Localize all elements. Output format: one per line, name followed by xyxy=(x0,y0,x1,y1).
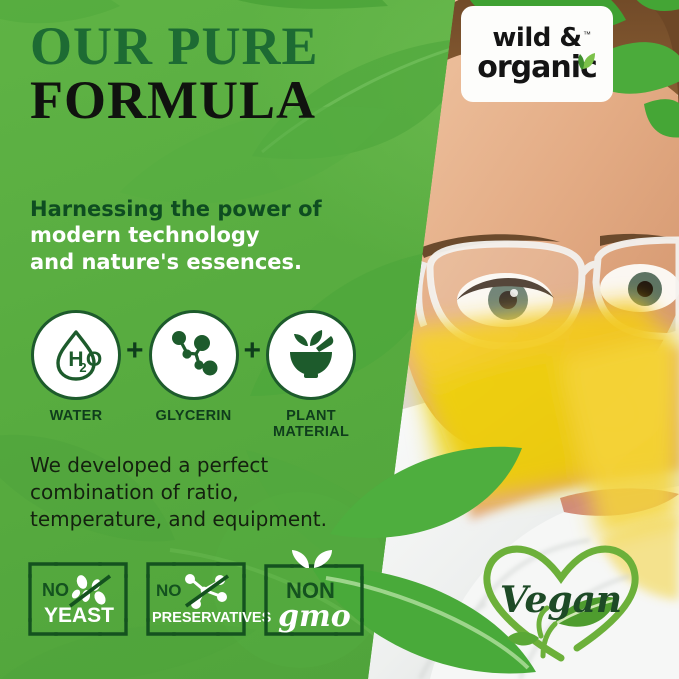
vegan-badge[interactable]: Vegan Vegan xyxy=(477,540,647,668)
glycerin-circle xyxy=(149,310,239,400)
trademark-symbol: ™ xyxy=(583,31,591,39)
glycerin-molecule-icon xyxy=(165,326,223,384)
mortar-pestle-icon xyxy=(282,326,340,384)
non-gmo-badge[interactable]: NON gmo NON gmo xyxy=(262,560,367,638)
body-line-1: We developed a perfect xyxy=(30,452,327,479)
subtitle-line-2: modern technology xyxy=(30,222,322,248)
page-title: OUR PURE FORMULA xyxy=(30,22,319,125)
badge-bottom-text: YEAST xyxy=(44,604,114,627)
badge-top-text: NO xyxy=(42,580,69,600)
water-circle: H 2 O xyxy=(31,310,121,400)
plus-operator-1: + xyxy=(126,334,144,368)
ingredients-row: H 2 O WATER + xyxy=(28,310,359,441)
subtitle-block: Harnessing the power of modern technolog… xyxy=(30,196,322,275)
ingredient-label-plant-material: PLANT MATERIAL xyxy=(273,409,349,441)
subtitle-line-1: Harnessing the power of xyxy=(30,196,322,222)
plus-operator-2: + xyxy=(244,334,262,368)
heart-leaf-vegan-icon: Vegan xyxy=(477,540,647,668)
title-line-1: OUR PURE xyxy=(30,22,319,72)
water-droplet-h2o-icon: H 2 O xyxy=(47,326,105,384)
ingredient-label-glycerin: GLYCERIN xyxy=(156,409,232,425)
ingredient-plant-material: PLANT MATERIAL xyxy=(263,310,359,441)
title-line-2: FORMULA xyxy=(30,76,319,126)
svg-text:PRESERVATIVES: PRESERVATIVES xyxy=(152,610,272,626)
no-preservatives-badge[interactable]: NO PRESERVATIVES NO PRESERVATIVES xyxy=(144,560,249,638)
plant-material-circle xyxy=(266,310,356,400)
logo-leaf-icon xyxy=(571,51,597,77)
svg-text:gmo: gmo xyxy=(278,599,351,634)
body-line-3: temperature, and equipment. xyxy=(30,506,327,533)
ingredient-label-water: WATER xyxy=(50,409,103,425)
body-paragraph: We developed a perfect combination of ra… xyxy=(30,452,327,532)
body-line-2: combination of ratio, xyxy=(30,479,327,506)
plant-label-line-2: MATERIAL xyxy=(273,424,349,440)
brand-logo[interactable]: wild & organic ™ xyxy=(461,6,613,102)
subtitle-line-3: and nature's essences. xyxy=(30,249,322,275)
svg-text:NO: NO xyxy=(156,581,182,600)
plant-label-line-1: PLANT xyxy=(286,408,336,424)
ingredient-water: H 2 O WATER xyxy=(28,310,124,425)
ingredient-glycerin: GLYCERIN xyxy=(146,310,242,425)
poster-root: wild & organic ™ OUR PURE FORMULA Harnes… xyxy=(0,0,679,679)
no-yeast-badge[interactable]: NO YEAST NO YEAST xyxy=(26,560,131,638)
certification-badges: NO YEAST NO YEAST xyxy=(26,560,367,638)
vegan-label-text: Vegan xyxy=(500,579,622,621)
